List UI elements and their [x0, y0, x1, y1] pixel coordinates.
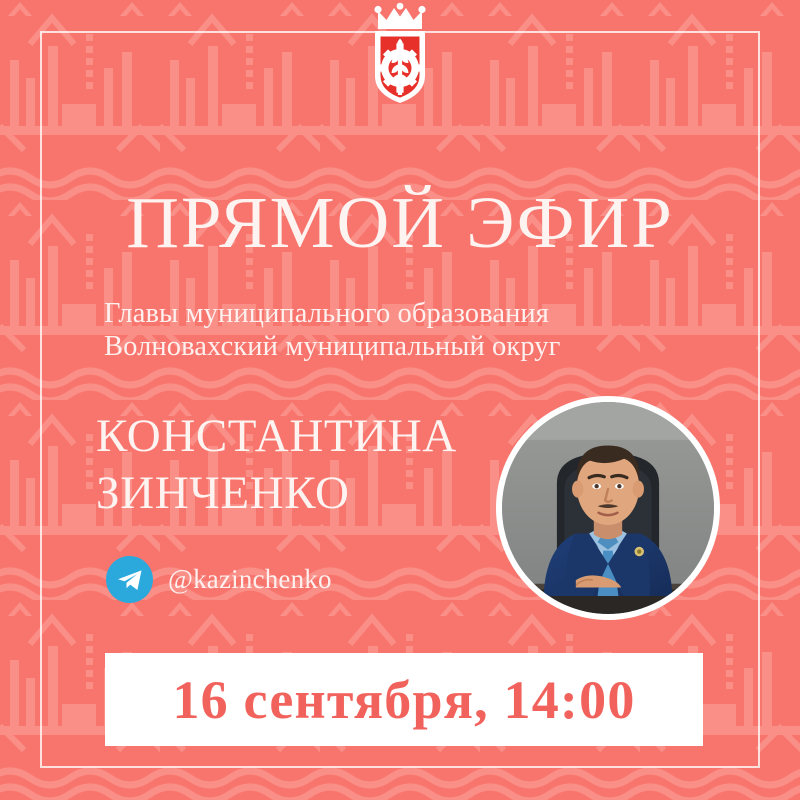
subtitle-line-1: Главы муниципального образования: [104, 297, 560, 330]
subtitle-line-2: Волновахский муниципальный округ: [104, 330, 560, 363]
person-name-line-2: ЗИНЧЕНКО: [96, 465, 457, 522]
coat-of-arms-shield-icon: [348, 2, 452, 106]
page-title: ПРЯМОЙ ЭФИР: [0, 186, 800, 259]
telegram-icon[interactable]: [106, 556, 153, 603]
person-portrait-photo: [496, 396, 720, 620]
telegram-handle[interactable]: @kazinchenko: [168, 564, 332, 595]
event-datetime: 16 сентября, 14:00: [172, 673, 635, 727]
date-banner: 16 сентября, 14:00: [105, 653, 703, 746]
live-broadcast-poster: ПРЯМОЙ ЭФИР Главы муниципального образов…: [0, 0, 800, 800]
telegram-contact[interactable]: @kazinchenko: [106, 556, 332, 603]
person-name-line-1: КОНСТАНТИНА: [96, 408, 457, 465]
person-name: КОНСТАНТИНА ЗИНЧЕНКО: [96, 408, 457, 522]
subtitle-block: Главы муниципального образования Волнова…: [104, 297, 560, 363]
